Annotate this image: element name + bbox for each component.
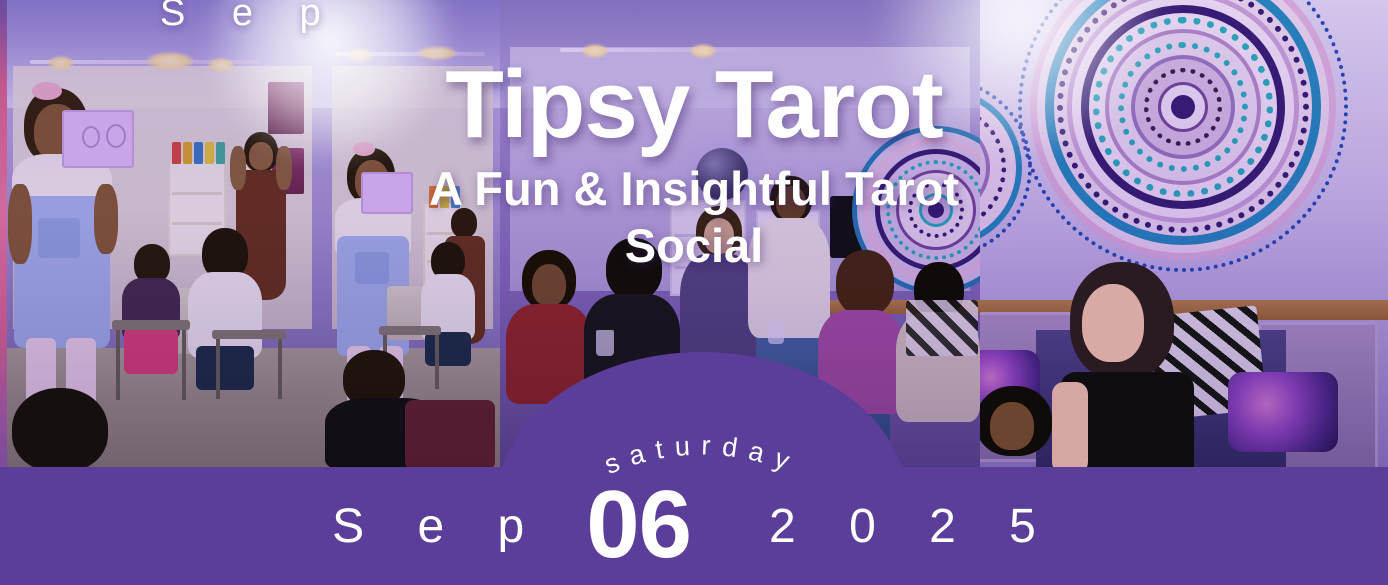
face (990, 402, 1034, 450)
top-month-label: S e p (160, 0, 339, 35)
left-edge-strip (0, 0, 7, 470)
sketchpad (361, 172, 413, 214)
event-banner: S e p Tipsy Tarot A Fun & Insightful Tar… (0, 0, 1388, 585)
photo-panel-left-presenter (0, 0, 325, 470)
sketchpad (62, 110, 134, 168)
photo-panel-second-presenter (325, 0, 500, 470)
bottom-date-bar (0, 467, 1388, 585)
face (1082, 284, 1144, 362)
purple-color-wash (0, 0, 325, 470)
purple-color-wash (325, 0, 500, 470)
photo-panel-right-lounge (980, 0, 1388, 470)
person-seated (980, 386, 1080, 470)
